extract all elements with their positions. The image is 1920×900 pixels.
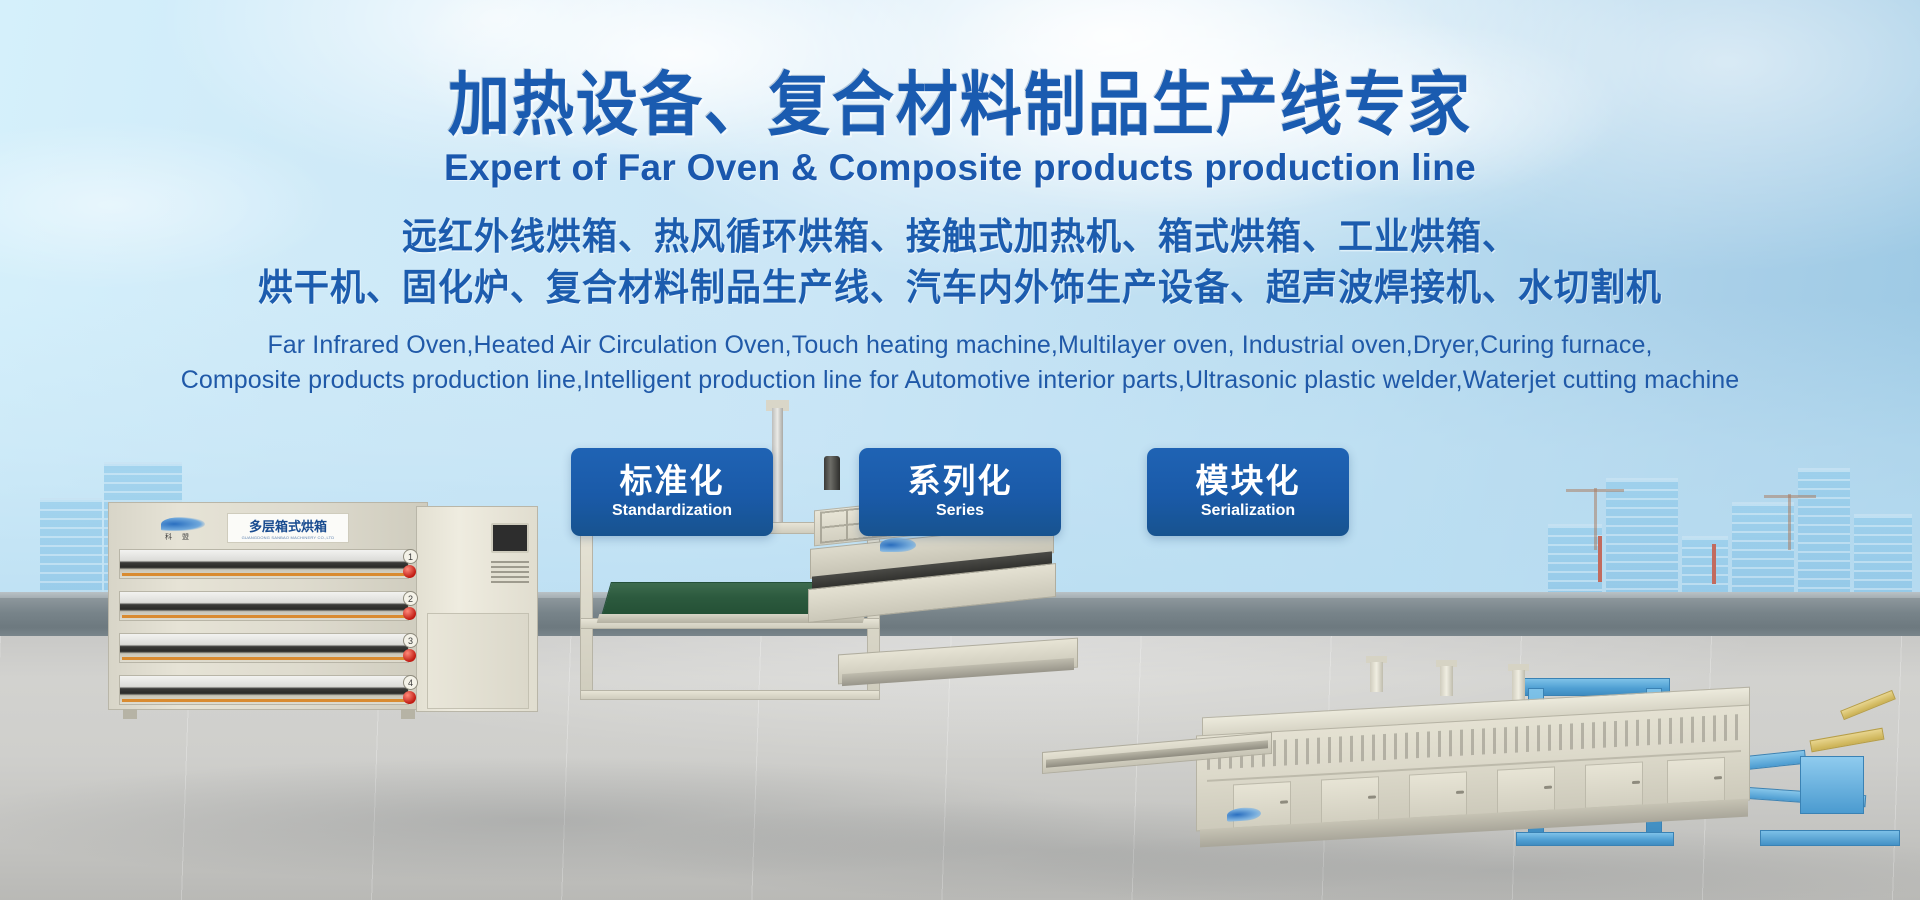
layer-indicator-2[interactable]: 2 bbox=[403, 591, 420, 608]
badge-label-cn: 系列化 bbox=[908, 464, 1013, 499]
emergency-button-icon[interactable] bbox=[403, 691, 416, 704]
exhaust-stack bbox=[1512, 670, 1525, 700]
badge-label-en: Series bbox=[936, 502, 984, 520]
machine-tunnel-oven bbox=[1196, 690, 1756, 870]
product-list-en-line-1: Far Infrared Oven,Heated Air Circulation… bbox=[0, 328, 1920, 364]
oven-tray bbox=[119, 549, 409, 579]
blue-equipment-base bbox=[1760, 830, 1900, 846]
yellow-brace bbox=[1810, 728, 1885, 753]
badge-label-cn: 标准化 bbox=[620, 464, 725, 499]
badge-label-en: Serialization bbox=[1201, 502, 1295, 520]
badge-label-cn: 模块化 bbox=[1196, 464, 1301, 499]
oven-access-door[interactable] bbox=[1233, 781, 1291, 828]
badge-series[interactable]: 系列化 Series bbox=[859, 448, 1061, 536]
cabinet-vents bbox=[491, 561, 529, 583]
oven-tray bbox=[119, 633, 409, 663]
product-list-chinese: 远红外线烘箱、热风循环烘箱、接触式加热机、箱式烘箱、工业烘箱、 烘干机、固化炉、… bbox=[0, 212, 1920, 314]
emergency-button-icon[interactable] bbox=[403, 565, 416, 578]
oven-legs bbox=[109, 709, 429, 719]
layer-indicator-1[interactable]: 1 bbox=[403, 549, 420, 566]
antenna-post bbox=[1712, 544, 1716, 584]
promotional-banner: 科 盟 多层箱式烘箱 GUANGDONG SANBAO MACHINERY CO… bbox=[0, 0, 1920, 900]
brand-logo-icon bbox=[880, 538, 916, 552]
oven-access-door[interactable] bbox=[1409, 771, 1467, 818]
oven-access-door[interactable] bbox=[1321, 776, 1379, 823]
badge-standardization[interactable]: 标准化 Standardization bbox=[571, 448, 773, 536]
control-cabinet: 1 2 3 4 bbox=[416, 506, 538, 712]
layer-indicator-3[interactable]: 3 bbox=[403, 633, 420, 650]
oven-tray bbox=[119, 675, 409, 705]
headline-english: Expert of Far Oven & Composite products … bbox=[0, 147, 1920, 189]
product-list-en-line-2: Composite products production line,Intel… bbox=[0, 363, 1920, 399]
product-list-english: Far Infrared Oven,Heated Air Circulation… bbox=[0, 328, 1920, 399]
antenna-post bbox=[1598, 536, 1602, 582]
yellow-brace bbox=[1840, 690, 1896, 720]
exhaust-stack bbox=[1440, 666, 1453, 696]
feature-badges: 标准化 Standardization 系列化 Series 模块化 Seria… bbox=[0, 448, 1920, 536]
emergency-button-icon[interactable] bbox=[403, 649, 416, 662]
control-enclosure bbox=[1800, 756, 1864, 814]
emergency-button-icon[interactable] bbox=[403, 607, 416, 620]
oven-access-door[interactable] bbox=[1667, 757, 1725, 804]
product-list-cn-line-2: 烘干机、固化炉、复合材料制品生产线、汽车内外饰生产设备、超声波焊接机、水切割机 bbox=[0, 263, 1920, 314]
oven-tray bbox=[119, 591, 409, 621]
headline-block: 加热设备、复合材料制品生产线专家 Expert of Far Oven & Co… bbox=[0, 0, 1920, 399]
oven-access-door[interactable] bbox=[1585, 761, 1643, 808]
cabinet-door[interactable] bbox=[427, 613, 529, 709]
product-list-cn-line-1: 远红外线烘箱、热风循环烘箱、接触式加热机、箱式烘箱、工业烘箱、 bbox=[0, 212, 1920, 263]
badge-modularization[interactable]: 模块化 Serialization bbox=[1147, 448, 1349, 536]
headline-chinese: 加热设备、复合材料制品生产线专家 bbox=[0, 68, 1920, 141]
layer-indicator-4[interactable]: 4 bbox=[403, 675, 420, 692]
oven-access-door[interactable] bbox=[1497, 766, 1555, 813]
badge-label-en: Standardization bbox=[612, 502, 732, 520]
exhaust-stack bbox=[1370, 662, 1383, 692]
